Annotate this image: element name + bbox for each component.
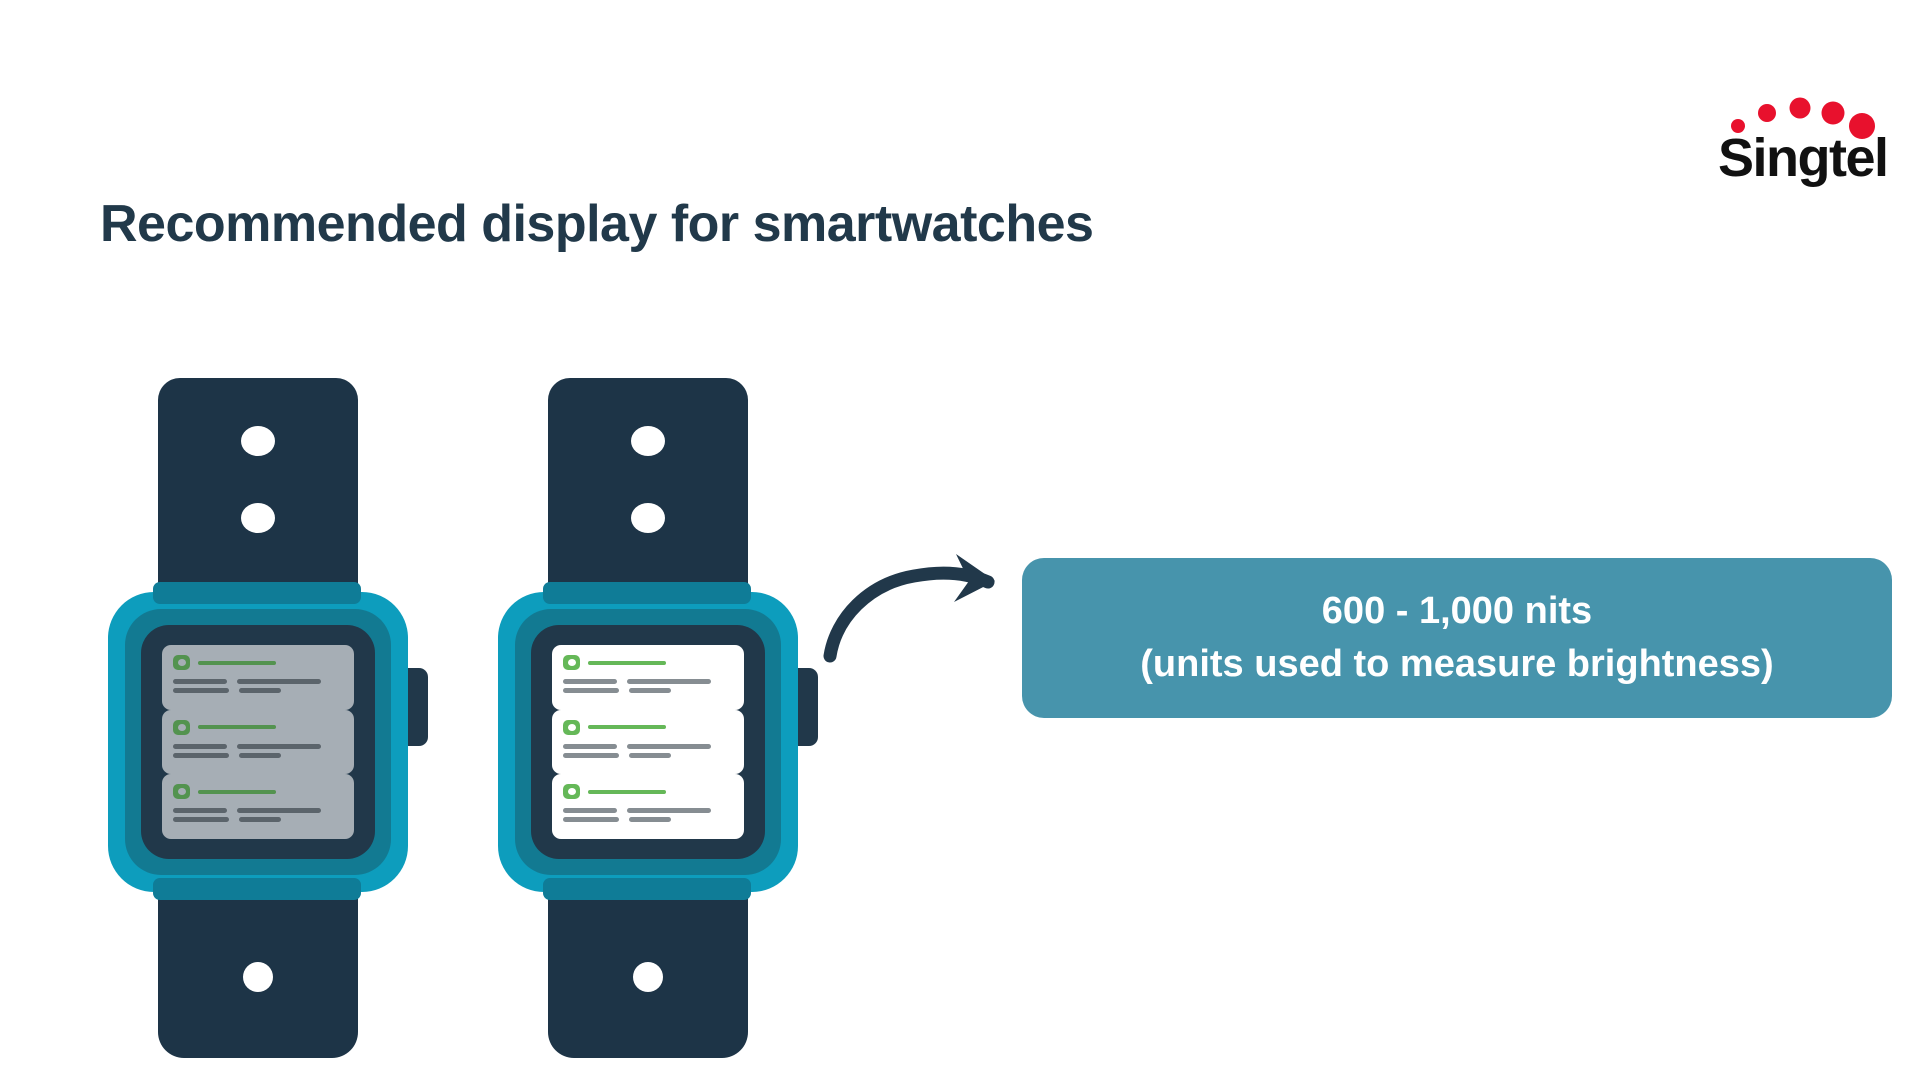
- smartwatch-bright: [498, 378, 798, 1058]
- curved-arrow-right-icon: [822, 548, 1012, 668]
- slide-canvas: Singtel Recommended display for smartwat…: [0, 0, 1920, 1080]
- text-bar: [173, 808, 227, 813]
- notification-title-placeholder: [588, 661, 666, 665]
- notification-card[interactable]: [552, 645, 744, 710]
- text-bar: [239, 688, 281, 693]
- watch-strap-top: [158, 378, 358, 598]
- notification-body: [173, 679, 343, 693]
- text-bar: [237, 679, 321, 684]
- text-bar: [173, 688, 229, 693]
- watch-screen[interactable]: [531, 625, 765, 859]
- watch-lug-top: [543, 582, 751, 604]
- notification-header: [173, 655, 343, 670]
- callout-line-primary: 600 - 1,000 nits: [1322, 588, 1592, 636]
- smartwatch-dim: [108, 378, 408, 1058]
- callout-line-secondary: (units used to measure brightness): [1140, 641, 1773, 689]
- watch-case-inner: [125, 609, 391, 875]
- notification-card[interactable]: [552, 774, 744, 839]
- text-bar: [627, 679, 711, 684]
- strap-hole: [633, 962, 663, 992]
- watch-case: [498, 592, 798, 892]
- notification-badge-icon: [173, 720, 190, 735]
- watch-lug-bottom: [543, 878, 751, 900]
- notification-title-placeholder: [198, 790, 276, 794]
- notification-body: [563, 679, 733, 693]
- notification-badge-icon: [563, 720, 580, 735]
- text-bar: [173, 679, 227, 684]
- notification-badge-icon: [173, 784, 190, 799]
- text-bar: [173, 817, 229, 822]
- text-bar: [239, 753, 281, 758]
- strap-hole: [241, 426, 275, 456]
- strap-hole: [631, 426, 665, 456]
- notification-header: [563, 720, 733, 735]
- notification-body: [173, 744, 343, 758]
- watch-lug-bottom: [153, 878, 361, 900]
- notification-body: [173, 808, 343, 822]
- watch-screen[interactable]: [141, 625, 375, 859]
- brightness-callout: 600 - 1,000 nits (units used to measure …: [1022, 558, 1892, 718]
- strap-hole: [241, 503, 275, 533]
- notification-title-placeholder: [588, 790, 666, 794]
- notification-body: [563, 808, 733, 822]
- text-bar: [563, 753, 619, 758]
- watch-strap-bottom: [548, 886, 748, 1058]
- notification-body: [563, 744, 733, 758]
- page-title: Recommended display for smartwatches: [100, 196, 1093, 253]
- notification-title-placeholder: [198, 661, 276, 665]
- watch-strap-top: [548, 378, 748, 598]
- singtel-logo: Singtel: [1712, 88, 1892, 188]
- text-bar: [173, 753, 229, 758]
- text-bar: [629, 817, 671, 822]
- text-bar: [563, 808, 617, 813]
- watch-lug-top: [153, 582, 361, 604]
- notification-card[interactable]: [162, 710, 354, 775]
- singtel-wordmark: Singtel: [1718, 128, 1888, 188]
- notification-card[interactable]: [162, 645, 354, 710]
- notification-badge-icon: [563, 784, 580, 799]
- notification-badge-icon: [563, 655, 580, 670]
- notification-card[interactable]: [162, 774, 354, 839]
- text-bar: [563, 817, 619, 822]
- text-bar: [627, 744, 711, 749]
- text-bar: [629, 753, 671, 758]
- notification-title-placeholder: [198, 725, 276, 729]
- watch-strap-bottom: [158, 886, 358, 1058]
- notification-badge-icon: [173, 655, 190, 670]
- strap-hole: [631, 503, 665, 533]
- text-bar: [563, 688, 619, 693]
- text-bar: [563, 744, 617, 749]
- notification-header: [563, 784, 733, 799]
- text-bar: [237, 744, 321, 749]
- text-bar: [173, 744, 227, 749]
- notification-header: [173, 720, 343, 735]
- text-bar: [563, 679, 617, 684]
- watch-case: [108, 592, 408, 892]
- watch-case-inner: [515, 609, 781, 875]
- notification-card[interactable]: [552, 710, 744, 775]
- text-bar: [629, 688, 671, 693]
- text-bar: [627, 808, 711, 813]
- text-bar: [237, 808, 321, 813]
- notification-header: [563, 655, 733, 670]
- notification-title-placeholder: [588, 725, 666, 729]
- notification-header: [173, 784, 343, 799]
- strap-hole: [243, 962, 273, 992]
- text-bar: [239, 817, 281, 822]
